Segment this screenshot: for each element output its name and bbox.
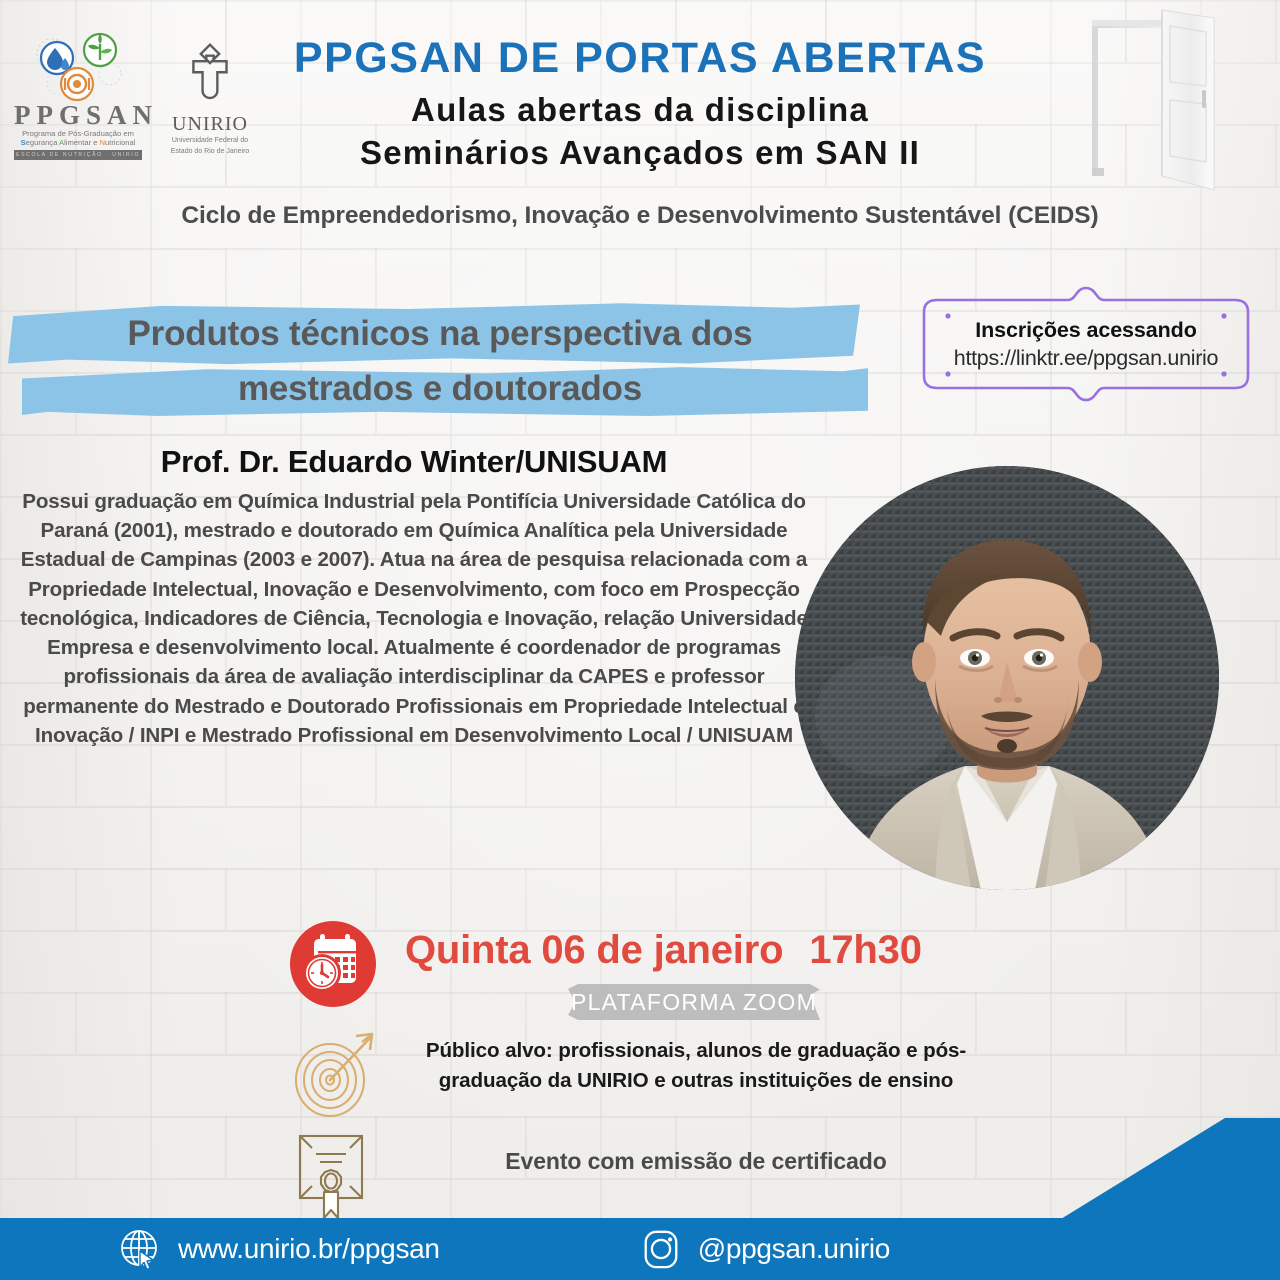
event-time: 17h30	[809, 928, 921, 972]
instagram-icon	[640, 1228, 682, 1270]
target-arrow-icon	[286, 1028, 382, 1124]
registration-heading: Inscrições acessando	[975, 318, 1196, 343]
platform-banner: PLATAFORMA ZOOM	[568, 984, 820, 1020]
speaker-bio: Possui graduação em Química Industrial p…	[8, 487, 820, 750]
event-date: Quinta 06 de janeiro	[405, 928, 783, 972]
cycle-label: Ciclo de Empreendedorismo, Inovação e De…	[0, 202, 1280, 230]
speaker-name: Prof. Dr. Eduardo Winter/UNISUAM	[0, 444, 828, 480]
footer-website[interactable]: www.unirio.br/ppgsan	[118, 1227, 440, 1271]
header-block: PPGSAN DE PORTAS ABERTAS Aulas abertas d…	[0, 36, 1280, 175]
instagram-handle: @ppgsan.unirio	[698, 1233, 890, 1265]
poster-canvas: PPGSAN Programa de Pós-Graduação em Segu…	[0, 0, 1280, 1280]
poster-subtitle-line1: Aulas abertas da disciplina	[0, 88, 1280, 132]
audience-text: Público alvo: profissionais, alunos de g…	[396, 1036, 996, 1096]
footer-instagram[interactable]: @ppgsan.unirio	[640, 1228, 890, 1270]
lecture-title-block: Produtos técnicos na perspectiva dos mes…	[0, 288, 880, 420]
registration-url[interactable]: https://linktr.ee/ppgsan.unirio	[954, 346, 1218, 371]
poster-subtitle-line2: Seminários Avançados em SAN II	[0, 131, 1280, 175]
website-url: www.unirio.br/ppgsan	[178, 1233, 440, 1265]
event-datetime: Quinta 06 de janeiro17h30	[405, 928, 922, 973]
lecture-title: Produtos técnicos na perspectiva dos mes…	[0, 306, 880, 417]
lecture-title-line1: Produtos técnicos na perspectiva dos	[0, 306, 880, 361]
certificate-seal-icon	[292, 1130, 376, 1222]
lecture-title-line2: mestrados e doutorados	[0, 361, 880, 416]
certificate-text: Evento com emissão de certificado	[396, 1148, 996, 1175]
poster-title: PPGSAN DE PORTAS ABERTAS	[0, 36, 1280, 82]
speaker-photo	[795, 466, 1219, 890]
calendar-clock-icon	[290, 921, 376, 1007]
footer-bar: www.unirio.br/ppgsan @ppgsan.unirio	[0, 1218, 1280, 1280]
registration-box[interactable]: Inscrições acessando https://linktr.ee/p…	[908, 286, 1264, 402]
platform-label: PLATAFORMA ZOOM	[571, 989, 817, 1016]
globe-cursor-icon	[118, 1227, 162, 1271]
